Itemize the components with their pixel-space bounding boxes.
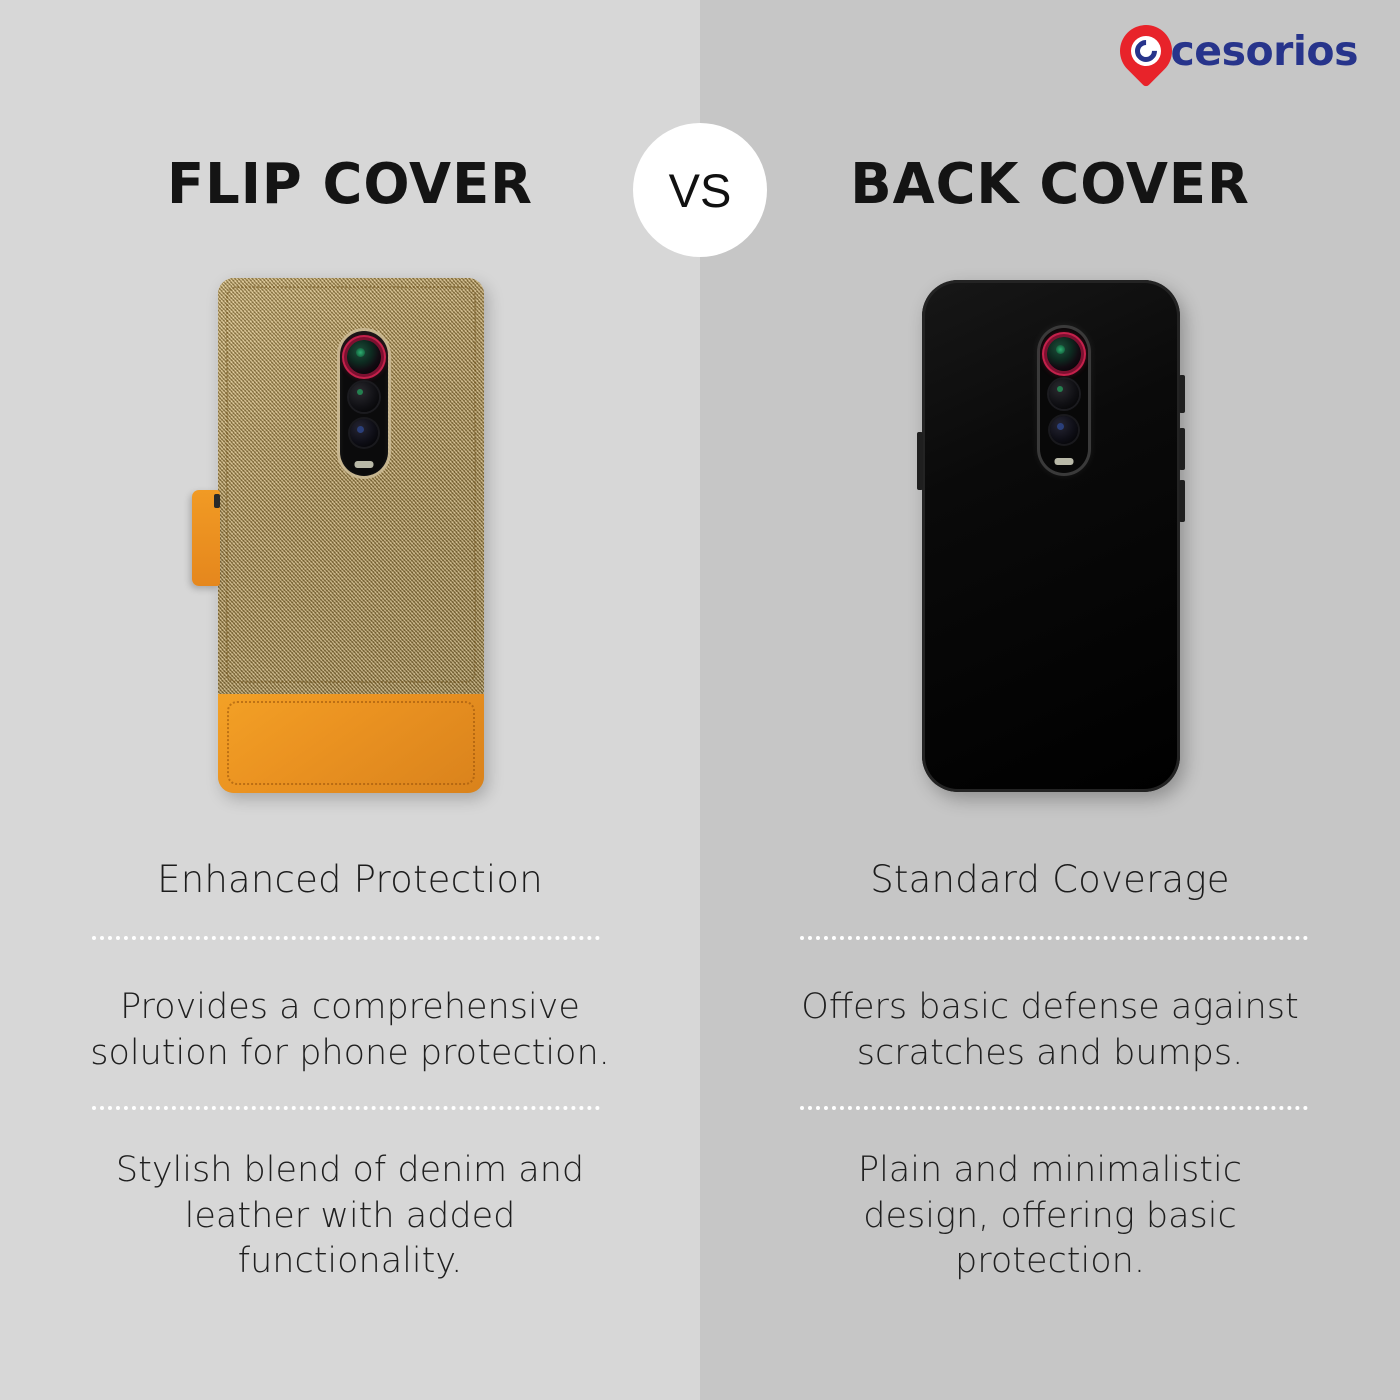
magnetic-flap-tab bbox=[192, 490, 220, 586]
camera-flash-icon bbox=[1055, 458, 1074, 465]
acesorios-pin-logo-icon bbox=[1120, 25, 1172, 77]
vs-label: VS bbox=[669, 163, 732, 218]
brand-wordmark: cesorios bbox=[1170, 27, 1358, 75]
feature-text-left-1: Provides a comprehensive solution for ph… bbox=[50, 985, 650, 1076]
leather-panel bbox=[218, 694, 484, 793]
camera-lens-main-icon bbox=[1047, 337, 1081, 371]
volume-down-button-cutout bbox=[1179, 480, 1185, 522]
camera-lens-tertiary-icon bbox=[350, 419, 378, 447]
feature-text-right-2: Plain and minimalistic design, offering … bbox=[750, 1148, 1350, 1285]
product-image-back-cover bbox=[700, 262, 1400, 822]
feature-text-right-1: Offers basic defense against scratches a… bbox=[750, 985, 1350, 1076]
camera-cutout bbox=[340, 331, 388, 476]
power-button-cutout bbox=[1179, 375, 1185, 413]
feature-text-left-2: Stylish blend of denim and leather with … bbox=[50, 1148, 650, 1285]
divider-right-1 bbox=[800, 936, 1308, 940]
camera-lens-secondary-icon bbox=[1049, 379, 1079, 409]
column-title-flip-cover: FLIP COVER bbox=[49, 152, 650, 217]
camera-lens-secondary-icon bbox=[349, 382, 379, 412]
feature-heading-right: Standard Coverage bbox=[740, 858, 1360, 901]
camera-lens-main-icon bbox=[347, 340, 381, 374]
column-title-back-cover: BACK COVER bbox=[749, 152, 1350, 217]
flip-cover-phone-case-image bbox=[218, 278, 484, 793]
camera-lens-tertiary-icon bbox=[1050, 416, 1078, 444]
divider-right-2 bbox=[800, 1106, 1308, 1110]
divider-left-1 bbox=[92, 936, 600, 940]
volume-up-button-cutout bbox=[1179, 428, 1185, 470]
back-cover-phone-case-image bbox=[922, 280, 1180, 792]
left-side-button-cutout bbox=[917, 432, 923, 490]
feature-heading-left: Enhanced Protection bbox=[40, 858, 660, 901]
camera-flash-icon bbox=[355, 461, 374, 468]
product-image-flip-cover bbox=[0, 262, 700, 822]
divider-left-2 bbox=[92, 1106, 600, 1110]
camera-cutout bbox=[1040, 328, 1088, 473]
vs-badge: VS bbox=[633, 123, 767, 257]
brand-logo[interactable]: cesorios bbox=[1120, 22, 1358, 80]
comparison-infographic: cesorios FLIP COVER BACK COVER VS bbox=[0, 0, 1400, 1400]
